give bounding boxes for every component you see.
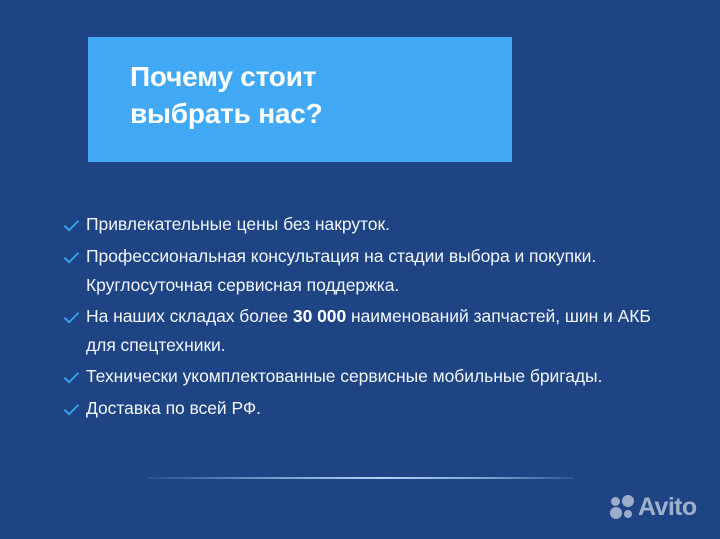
- highlight-count: 30 000: [293, 306, 346, 326]
- list-item: Доставка по всей РФ.: [64, 394, 674, 424]
- check-icon: [64, 302, 86, 332]
- benefits-list: Привлекательные цены без накруток. Профе…: [64, 210, 674, 426]
- list-item-label: Профессиональная консультация на стадии …: [86, 242, 674, 300]
- list-item: Технически укомплектованные сервисные мо…: [64, 362, 674, 392]
- slide-canvas: Почему стоит выбрать нас? Привлекательны…: [0, 0, 720, 539]
- list-item-label: Технически укомплектованные сервисные мо…: [86, 362, 674, 391]
- avito-watermark: Avito: [610, 494, 697, 520]
- check-icon: [64, 210, 86, 240]
- list-item: Привлекательные цены без накруток.: [64, 210, 674, 240]
- horizontal-divider: [148, 477, 573, 479]
- list-item-label: Привлекательные цены без накруток.: [86, 210, 674, 239]
- list-item-label: Доставка по всей РФ.: [86, 394, 674, 423]
- check-icon: [64, 362, 86, 392]
- page-title: Почему стоит выбрать нас?: [130, 59, 490, 133]
- list-item: Профессиональная консультация на стадии …: [64, 242, 674, 300]
- list-item-label: На наших складах более 30 000 наименован…: [86, 302, 674, 360]
- check-icon: [64, 394, 86, 424]
- title-box: Почему стоит выбрать нас?: [88, 37, 512, 162]
- check-icon: [64, 242, 86, 272]
- avito-wordmark: Avito: [638, 494, 697, 520]
- avito-logo-icon: [610, 494, 636, 520]
- list-item: На наших складах более 30 000 наименован…: [64, 302, 674, 360]
